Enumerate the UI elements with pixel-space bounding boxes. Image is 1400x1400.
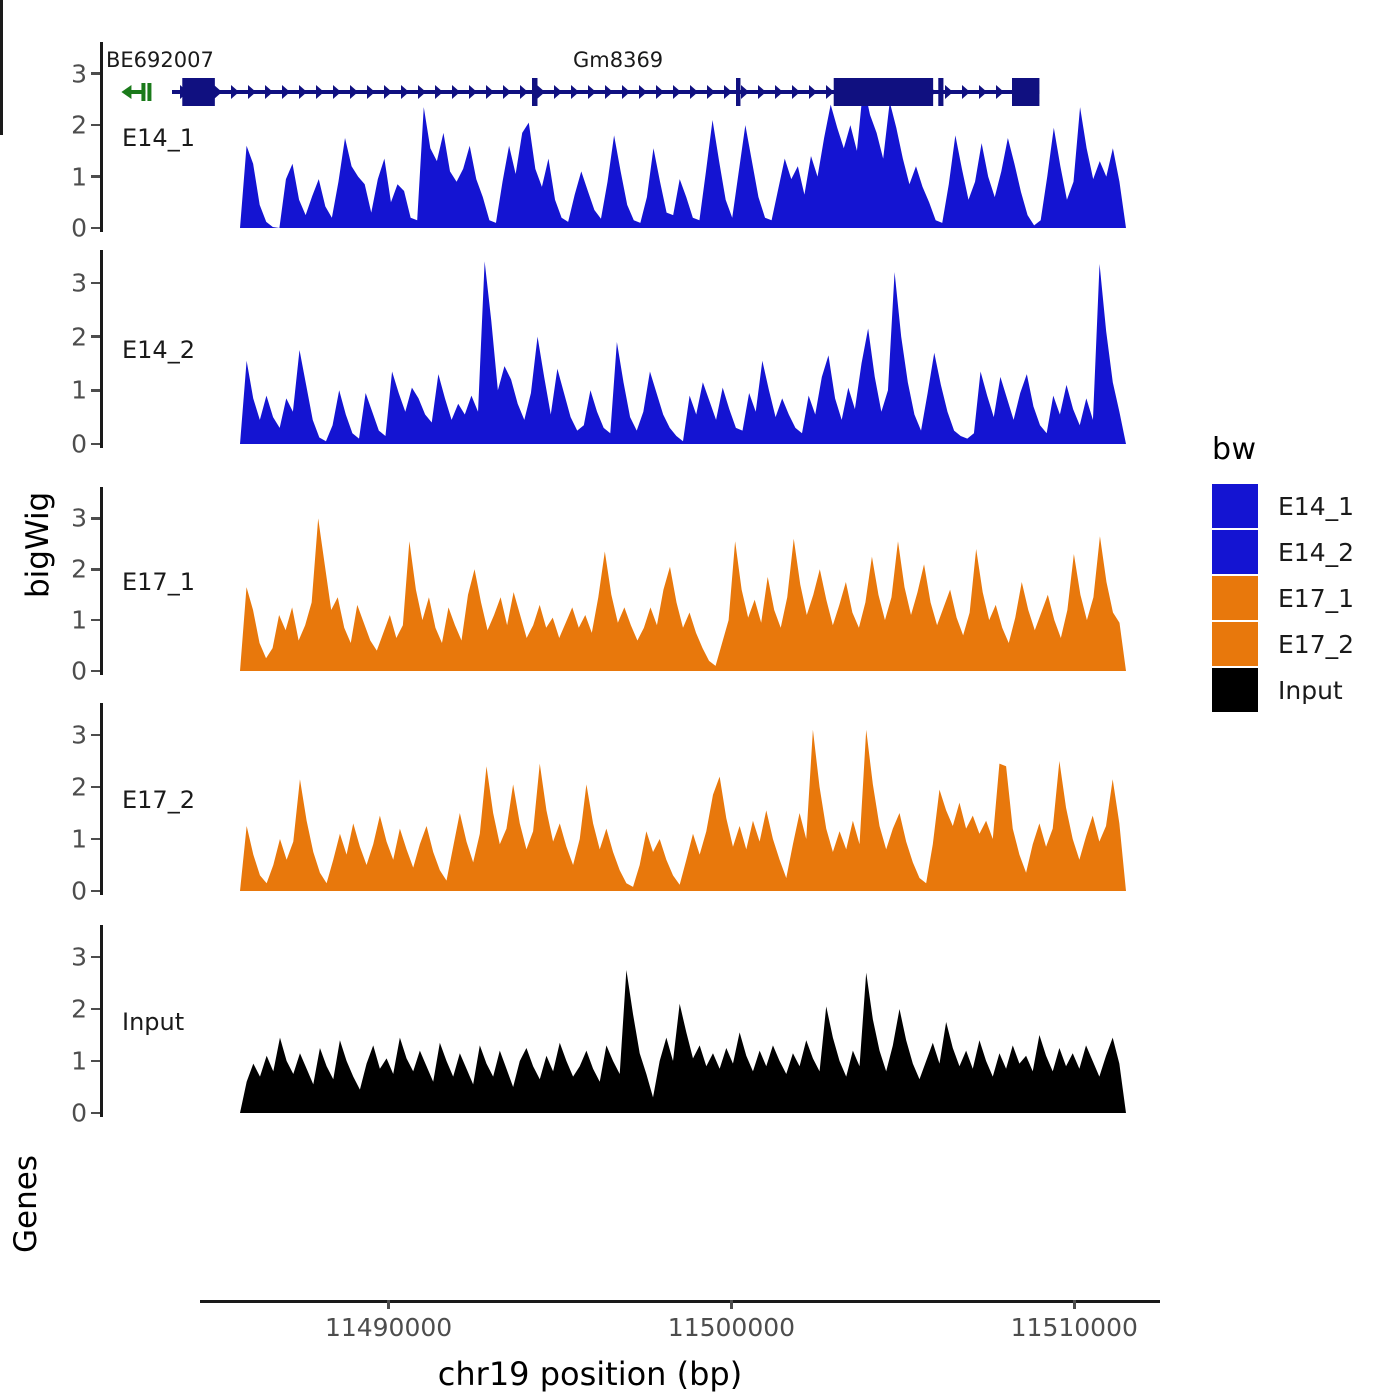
panel-input: 0123Input [100,925,1146,1117]
panel-e17_1: 0123E17_1 [100,487,1146,675]
y-axis-line-e17_1 [100,487,103,675]
y-tick [91,568,100,571]
y-tick-label: 3 [71,945,87,970]
legend-label: Input [1278,676,1343,705]
x-tick [387,1300,390,1309]
panel-label-e14_2: E14_2 [122,336,195,364]
gene-be692007 [121,83,151,101]
y-axis-line-e17_2 [100,703,103,895]
signal-track-e17_1 [240,487,1126,675]
legend-item-e14_1[interactable]: E14_1 [1212,483,1392,529]
y-tick-label: 1 [71,827,87,852]
y-tick-label: 2 [71,775,87,800]
panel-e17_2: 0123E17_2 [100,703,1146,895]
y-tick [91,1060,100,1063]
legend-swatch-e14_2 [1212,530,1258,574]
y-tick [91,956,100,959]
y-tick-label: 0 [71,879,87,904]
y-axis-title: bigWig [20,558,56,598]
y-tick-label: 2 [71,997,87,1022]
y-tick [91,517,100,520]
x-tick-label: 11490000 [325,1313,452,1342]
genes-panel: BE692007 Gm8369 [0,0,1060,140]
y-tick [91,734,100,737]
panel-label-e17_2: E17_2 [122,786,195,814]
x-tick [730,1300,733,1309]
signal-track-input [240,925,1126,1117]
y-tick [91,282,100,285]
y-tick [91,838,100,841]
y-tick [91,175,100,178]
y-tick-label: 0 [71,216,87,241]
y-tick-label: 0 [71,1101,87,1126]
legend-label: E14_2 [1278,538,1354,567]
y-tick-label: 3 [71,270,87,295]
y-tick [91,227,100,230]
legend-title: bw [1212,432,1392,467]
legend-item-input[interactable]: Input [1212,667,1392,713]
gene-model-track [0,0,1060,140]
panel-label-input: Input [122,1008,184,1036]
y-tick [91,443,100,446]
legend-item-e17_2[interactable]: E17_2 [1212,621,1392,667]
y-tick [91,619,100,622]
legend-item-e17_1[interactable]: E17_1 [1212,575,1392,621]
y-tick [91,335,100,338]
y-tick-label: 3 [71,506,87,531]
x-tick-label: 11500000 [668,1313,795,1342]
y-tick-label: 2 [71,324,87,349]
y-tick-label: 0 [71,659,87,684]
y-tick-label: 1 [71,378,87,403]
gene-gm8369 [172,78,1039,106]
y-tick-label: 3 [71,723,87,748]
legend-swatch-input [1212,668,1258,712]
legend-swatch-e14_1 [1212,484,1258,528]
x-tick [1073,1300,1076,1309]
legend-swatch-e17_2 [1212,622,1258,666]
y-tick-label: 2 [71,557,87,582]
y-tick-label: 1 [71,608,87,633]
y-tick [91,890,100,893]
y-tick [91,786,100,789]
y-tick-label: 1 [71,1049,87,1074]
y-tick [91,389,100,392]
legend-item-e14_2[interactable]: E14_2 [1212,529,1392,575]
panel-label-e17_1: E17_1 [122,568,195,596]
y-tick-label: 0 [71,432,87,457]
panel-e14_2: 0123E14_2 [100,250,1146,448]
legend-label: E14_1 [1278,492,1354,521]
signal-track-e17_2 [240,703,1126,895]
x-axis-title: chr19 position (bp) [0,1355,1180,1393]
legend-swatch-e17_1 [1212,576,1258,620]
signal-track-e14_2 [240,250,1126,448]
y-tick [91,670,100,673]
x-axis-line [200,1300,1160,1303]
x-tick-label: 11510000 [1011,1313,1138,1342]
y-tick [91,1112,100,1115]
y-tick-label: 1 [71,164,87,189]
genes-strip-title: Genes [8,1213,44,1253]
legend-label: E17_2 [1278,630,1354,659]
legend-items: E14_1E14_2E17_1E17_2Input [1212,483,1392,713]
legend: bw E14_1E14_2E17_1E17_2Input [1212,432,1392,713]
y-axis-line-input [100,925,103,1117]
y-tick [91,1008,100,1011]
y-axis-line-e14_2 [100,250,103,448]
legend-label: E17_1 [1278,584,1354,613]
